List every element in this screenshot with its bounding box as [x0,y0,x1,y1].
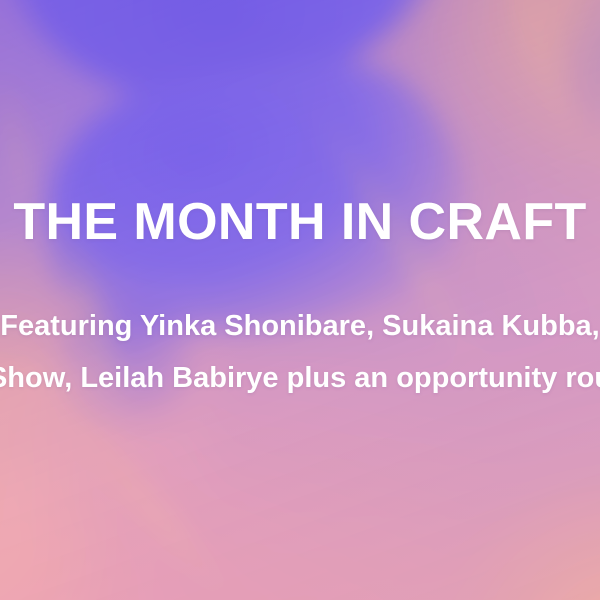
banner-headline: THE MONTH IN CRAFT [13,196,586,248]
month-in-craft-banner: THE MONTH IN CRAFT Featuring Yinka Shoni… [0,0,600,600]
banner-text-layer: THE MONTH IN CRAFT Featuring Yinka Shoni… [0,0,600,600]
banner-subheadline: Featuring Yinka Shonibare, Sukaina Kubba… [0,300,600,404]
banner-subheadline-line-2: Show, Leilah Babirye plus an opportunity… [0,352,600,404]
banner-subheadline-line-1: Featuring Yinka Shonibare, Sukaina Kubba… [0,300,600,352]
